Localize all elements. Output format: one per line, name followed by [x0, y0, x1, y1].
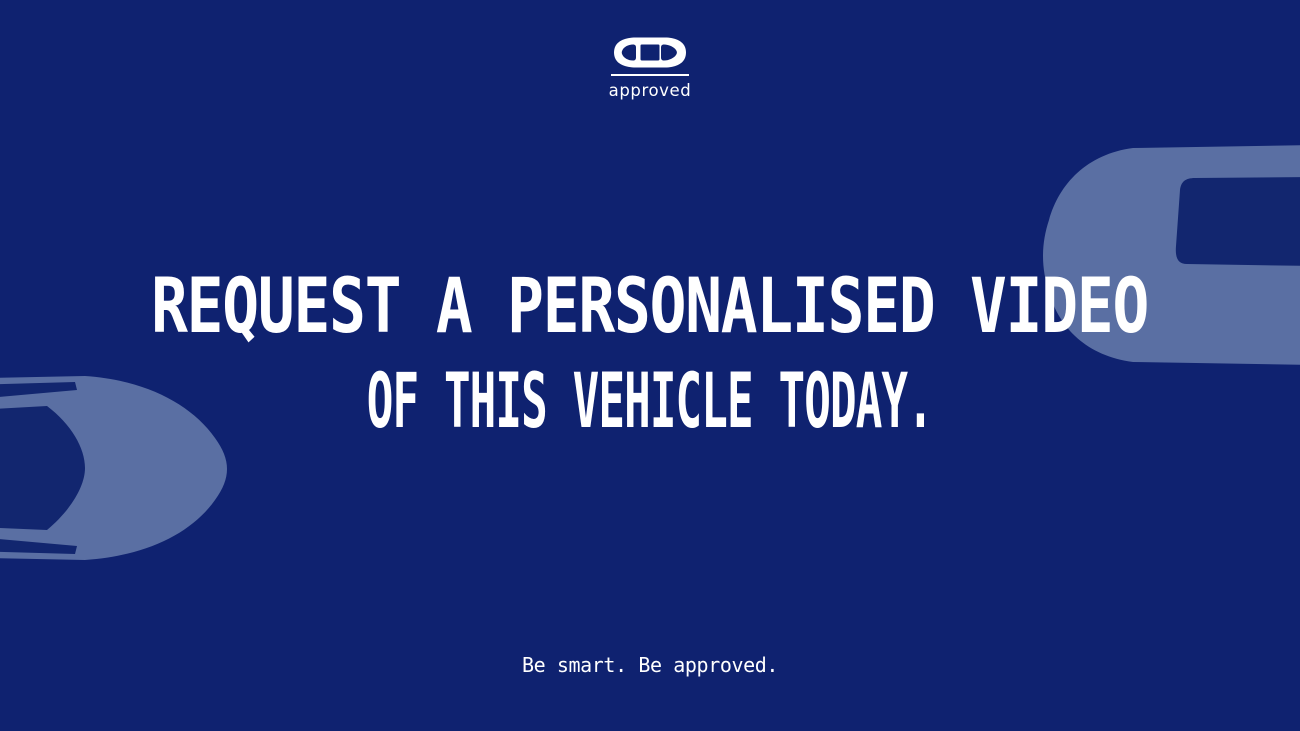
headline-line-2: OF THIS VEHICLE TODAY. — [367, 363, 933, 438]
promo-banner: approved REQUEST A PERSONALISED VIDEO OF… — [0, 0, 1300, 731]
logo-divider-rule — [611, 74, 689, 76]
brand-logo: approved — [0, 36, 1300, 100]
brand-tagline: Be smart. Be approved. — [0, 655, 1300, 675]
logo-wordmark: approved — [0, 83, 1300, 100]
headline-line-1: REQUEST A PERSONALISED VIDEO — [151, 268, 1148, 343]
page-title: REQUEST A PERSONALISED VIDEO OF THIS VEH… — [0, 268, 1300, 438]
top-down-car-icon — [613, 36, 687, 69]
